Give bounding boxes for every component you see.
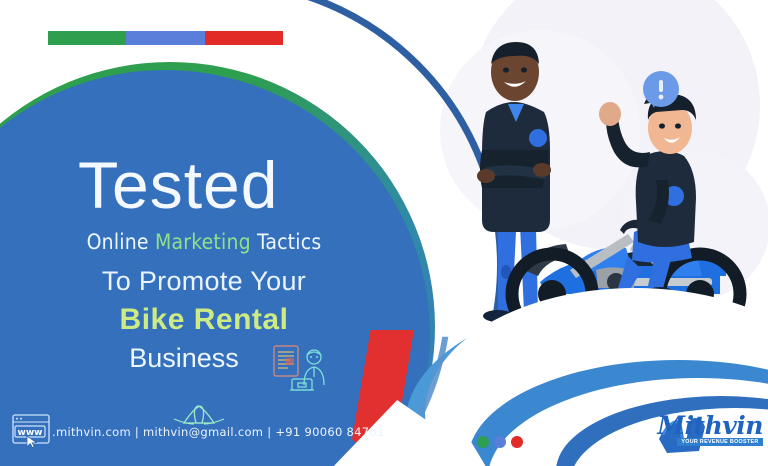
svg-text:www: www: [18, 428, 43, 438]
tricolor-segment-blue: [126, 31, 204, 45]
headline-subline-2: To Promote Your: [44, 268, 364, 295]
www-browser-icon[interactable]: www: [12, 414, 54, 448]
logo-wordmark: Mithvin: [655, 411, 765, 440]
logo-tagline: Your Revenue Booster: [677, 438, 763, 446]
tricolor-dots: [477, 436, 523, 448]
marketing-banner: Tested Online Marketing Tactics To Promo…: [0, 0, 768, 466]
headline-subline-1: Online Marketing Tactics: [54, 232, 354, 253]
dot-green: [477, 436, 489, 448]
tricolor-bar: [48, 31, 283, 45]
headline-subline-3: Bike Rental: [44, 305, 364, 335]
subline-suffix: Tactics: [251, 230, 322, 254]
dot-blue: [494, 436, 506, 448]
subline-accent: Marketing: [155, 230, 251, 254]
tricolor-segment-red: [205, 31, 283, 45]
headline-main: Tested: [78, 152, 278, 218]
business-person-icon: [272, 343, 334, 393]
tricolor-segment-green: [48, 31, 126, 45]
contact-line[interactable]: .mithvin.com | mithvin@gmail.com | +91 9…: [52, 425, 385, 439]
alert-bubble-icon: [640, 70, 682, 112]
brand-logo[interactable]: Mithvin Your Revenue Booster: [655, 405, 763, 461]
dot-red: [511, 436, 523, 448]
subline-prefix: Online: [87, 230, 155, 254]
